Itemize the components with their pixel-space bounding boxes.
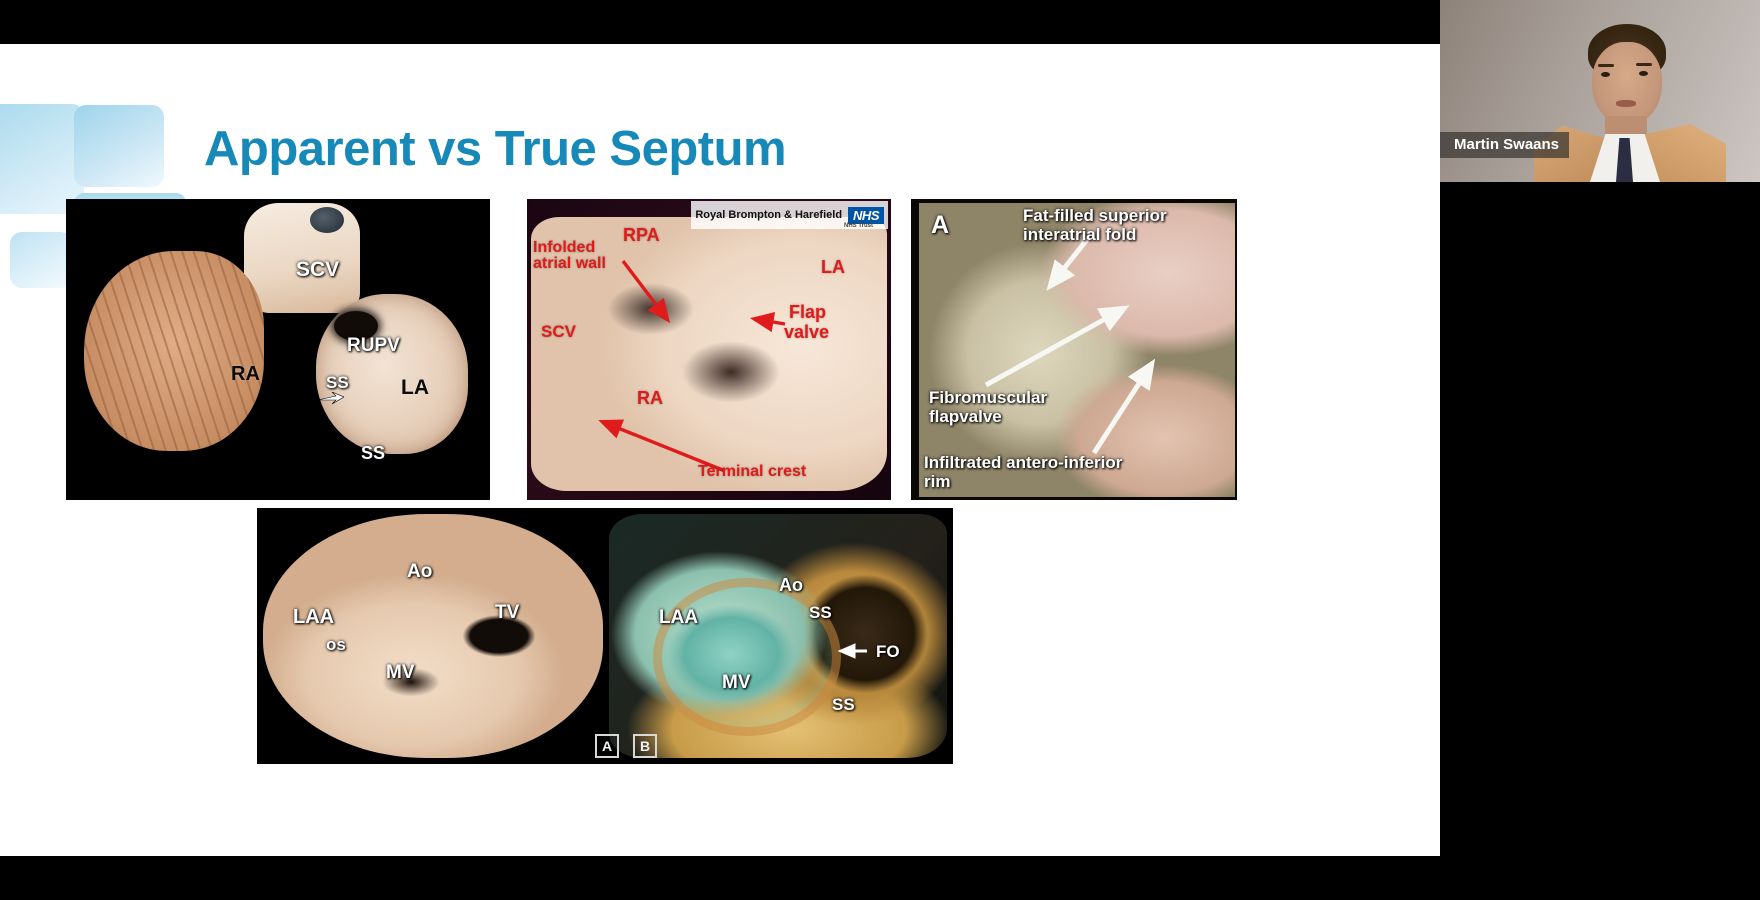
specimen-ra-pectinate-folds	[84, 251, 264, 451]
label-terminal-crest: Terminal crest	[698, 464, 806, 480]
label-left-tv: TV	[495, 603, 519, 622]
figure-panel-specimen-3: A Fat-filled superior interatrial fold F…	[911, 199, 1237, 500]
label-rim-line2: rim	[924, 473, 950, 490]
figure-panel-specimen-1: SCV RA RUPV SS LA SS	[66, 199, 490, 500]
label-right-fo: FO	[876, 643, 900, 660]
label-right-ss-upper: SS	[809, 604, 832, 621]
label-fat-line2: interatrial fold	[1023, 226, 1136, 243]
label-scv: SCV	[296, 259, 339, 280]
label-panel-letter-a: A	[931, 213, 949, 238]
label-ss-upper: SS	[326, 374, 349, 391]
participant-mouth	[1616, 100, 1636, 107]
participant-name-label: Martin Swaans	[1440, 132, 1569, 158]
label-rupv: RUPV	[347, 336, 400, 355]
label-rpa: RPA	[623, 226, 660, 244]
annotation-arrow-fo	[257, 508, 953, 764]
label-fat-line1: Fat-filled superior	[1023, 207, 1167, 224]
label-la: LA	[401, 377, 429, 398]
specimen-scv-cannula	[310, 207, 344, 233]
label-infolded: Infolded	[533, 240, 595, 256]
label-right-ss-lower: SS	[832, 696, 855, 713]
decorative-square-1	[0, 104, 84, 214]
pointer-arrow-icon	[318, 392, 344, 406]
decorative-square-3	[10, 232, 72, 288]
participant-brow-left	[1598, 64, 1614, 67]
figure-panel-specimen-4: Ao LAA os MV TV Ao LAA SS MV FO SS A B	[257, 508, 953, 764]
label-right-mv: MV	[722, 673, 751, 692]
label-left-mv: MV	[386, 663, 415, 682]
participant-eye-left	[1601, 72, 1610, 77]
slide-title: Apparent vs True Septum	[204, 121, 786, 177]
label-left-os: os	[326, 636, 346, 653]
badge-a: A	[595, 734, 619, 758]
label-valve: valve	[784, 323, 829, 341]
label-left-ao: Ao	[407, 562, 432, 581]
label-left-laa: LAA	[293, 607, 334, 627]
presentation-slide: Apparent vs True Septum SCV RA RUPV SS L…	[0, 44, 1440, 856]
label-atrial-wall: atrial wall	[533, 256, 606, 272]
label-fibro-line1: Fibromuscular	[929, 389, 1047, 406]
figure-panel-specimen-2: Royal Brompton & Harefield NHS NHS Trust…	[527, 199, 891, 500]
participant-video-tile[interactable]: Martin Swaans	[1440, 0, 1760, 182]
decorative-square-2	[74, 105, 164, 187]
label-la: LA	[821, 258, 845, 276]
label-ra: RA	[637, 389, 663, 407]
participant-face	[1592, 42, 1662, 126]
participant-eye-right	[1639, 71, 1648, 76]
screen-root: Apparent vs True Septum SCV RA RUPV SS L…	[0, 0, 1760, 900]
label-fibro-line2: flapvalve	[929, 408, 1002, 425]
badge-b: B	[633, 734, 657, 758]
label-ra: RA	[231, 364, 260, 384]
label-right-laa: LAA	[659, 608, 698, 627]
label-right-ao: Ao	[779, 576, 803, 594]
label-scv: SCV	[541, 323, 576, 340]
participant-brow-right	[1636, 63, 1652, 66]
label-rim-line1: Infiltrated antero-inferior	[924, 454, 1122, 471]
label-flap: Flap	[789, 303, 826, 321]
label-ss-lower: SS	[361, 444, 385, 462]
